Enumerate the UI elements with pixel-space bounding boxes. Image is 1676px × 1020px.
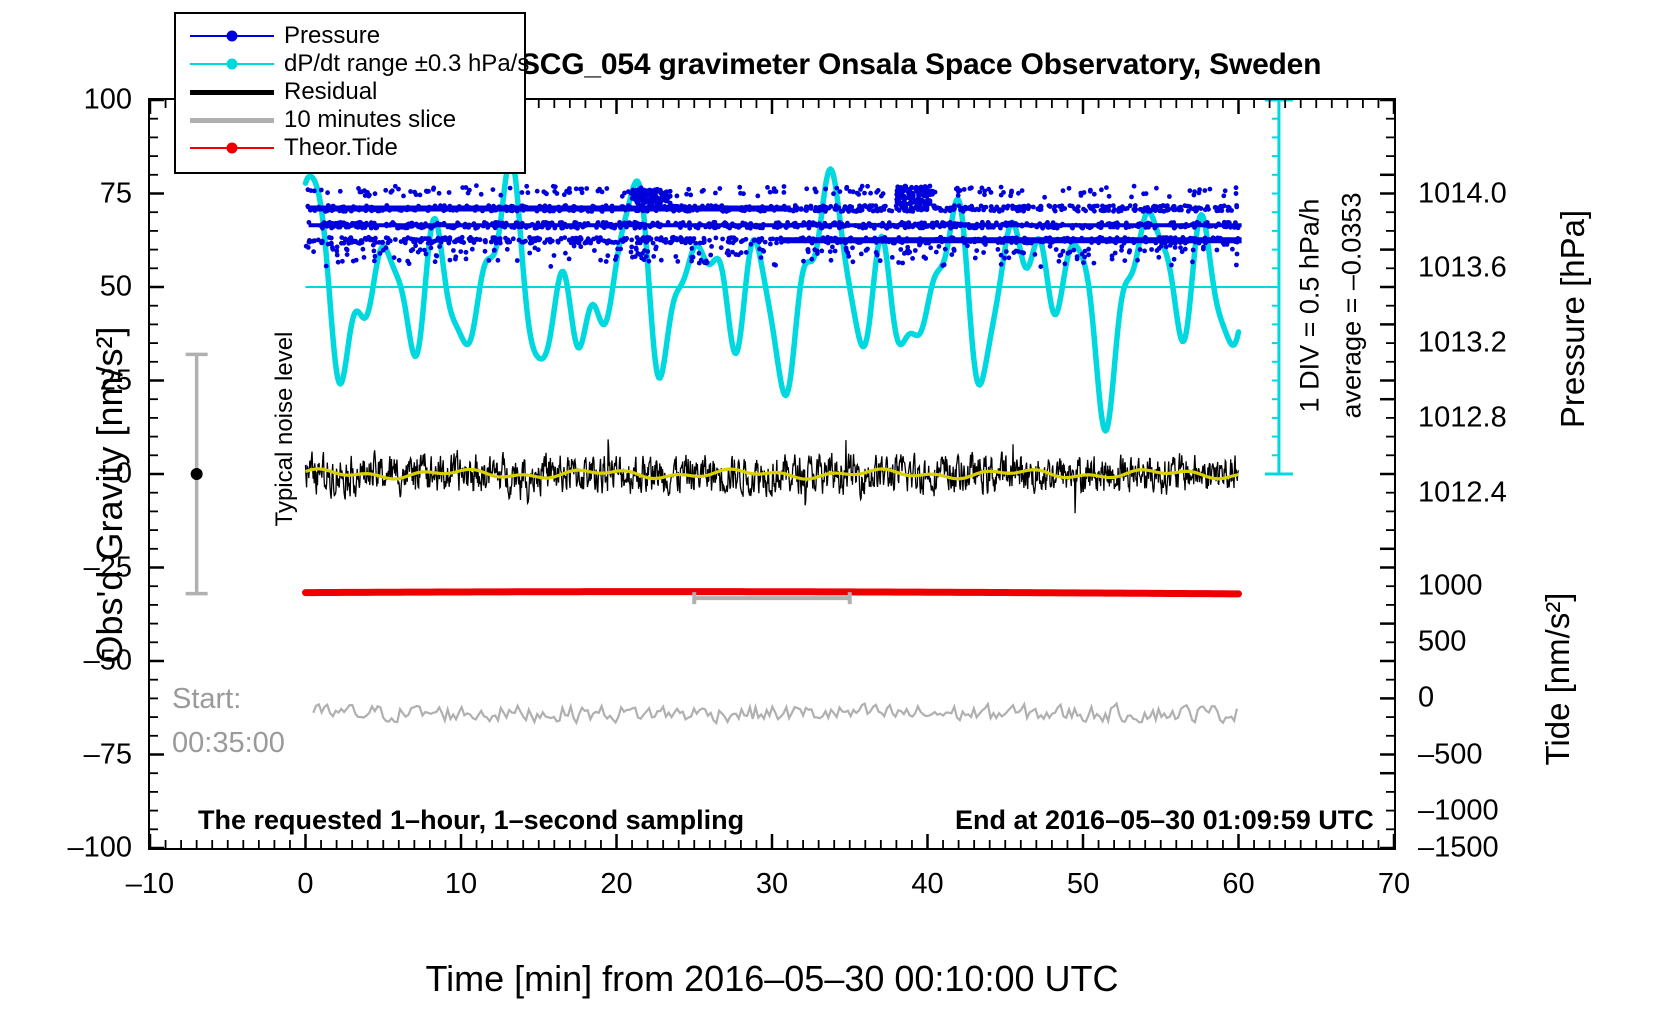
tide-tick-label: –1500	[1418, 832, 1499, 865]
legend[interactable]: PressuredP/dt range ±0.3 hPa/sResidual10…	[174, 12, 526, 174]
legend-label: dP/dt range ±0.3 hPa/s	[278, 50, 529, 78]
x-tick-label: 20	[562, 868, 672, 901]
x-tick-label: 50	[1028, 868, 1138, 901]
plot-area	[148, 98, 1396, 850]
start-time: 00:35:00	[172, 727, 285, 760]
tide-tick-label: –1000	[1418, 794, 1499, 827]
y-tick-label: 25	[12, 364, 132, 397]
legend-label: Pressure	[278, 22, 380, 50]
y-axis-title-pressure: Pressure [hPa]	[1554, 119, 1592, 519]
page-title: SCG_054 gravimeter Onsala Space Observat…	[520, 48, 1321, 82]
x-axis-title: Time [min] from 2016–05–30 00:10:00 UTC	[148, 958, 1396, 1000]
tide-tick-label: 0	[1418, 682, 1434, 715]
legend-swatch-icon	[186, 24, 278, 48]
plot-traces	[150, 100, 1394, 848]
chart-canvas: SCG_054 gravimeter Onsala Space Observat…	[0, 0, 1676, 1020]
y-tick-label: –75	[12, 738, 132, 771]
legend-item-4[interactable]: Theor.Tide	[186, 134, 514, 162]
pressure-tick-label: 1013.2	[1418, 327, 1507, 360]
x-tick-label: 10	[406, 868, 516, 901]
y-tick-label: 50	[12, 271, 132, 304]
x-tick-label: –10	[95, 868, 205, 901]
pressure-tick-label: 1013.6	[1418, 252, 1507, 285]
legend-swatch-icon	[186, 80, 278, 104]
start-label: Start:	[172, 683, 241, 716]
x-tick-label: 60	[1184, 868, 1294, 901]
sampling-note: The requested 1–hour, 1–second sampling	[198, 805, 744, 836]
legend-item-0[interactable]: Pressure	[186, 22, 514, 50]
x-tick-label: 0	[251, 868, 361, 901]
y-axis-title-tide: Tide [nm/s²]	[1539, 499, 1577, 859]
y-tick-label: –50	[12, 645, 132, 678]
legend-item-3[interactable]: 10 minutes slice	[186, 106, 514, 134]
pressure-tick-label: 1014.0	[1418, 177, 1507, 210]
y-tick-label: –25	[12, 551, 132, 584]
x-tick-label: 30	[717, 868, 827, 901]
x-tick-label: 70	[1339, 868, 1449, 901]
legend-swatch-icon	[186, 108, 278, 132]
y-tick-label: –100	[12, 832, 132, 865]
legend-swatch-icon	[186, 52, 278, 76]
y-tick-label: 100	[12, 84, 132, 117]
legend-item-1[interactable]: dP/dt range ±0.3 hPa/s	[186, 50, 514, 78]
legend-label: Theor.Tide	[278, 134, 398, 162]
legend-swatch-icon	[186, 136, 278, 160]
tide-tick-label: 1000	[1418, 570, 1483, 603]
tide-tick-label: –500	[1418, 738, 1483, 771]
legend-label: 10 minutes slice	[278, 106, 456, 134]
end-note: End at 2016–05–30 01:09:59 UTC	[955, 805, 1374, 836]
y-tick-label: 0	[12, 458, 132, 491]
noise-level-label: Typical noise level	[271, 294, 299, 564]
y-tick-label: 75	[12, 177, 132, 210]
x-tick-label: 40	[873, 868, 983, 901]
pressure-tick-label: 1012.8	[1418, 401, 1507, 434]
legend-label: Residual	[278, 78, 377, 106]
legend-item-2[interactable]: Residual	[186, 78, 514, 106]
tide-tick-label: 500	[1418, 626, 1466, 659]
pressure-tick-label: 1012.4	[1418, 476, 1507, 509]
